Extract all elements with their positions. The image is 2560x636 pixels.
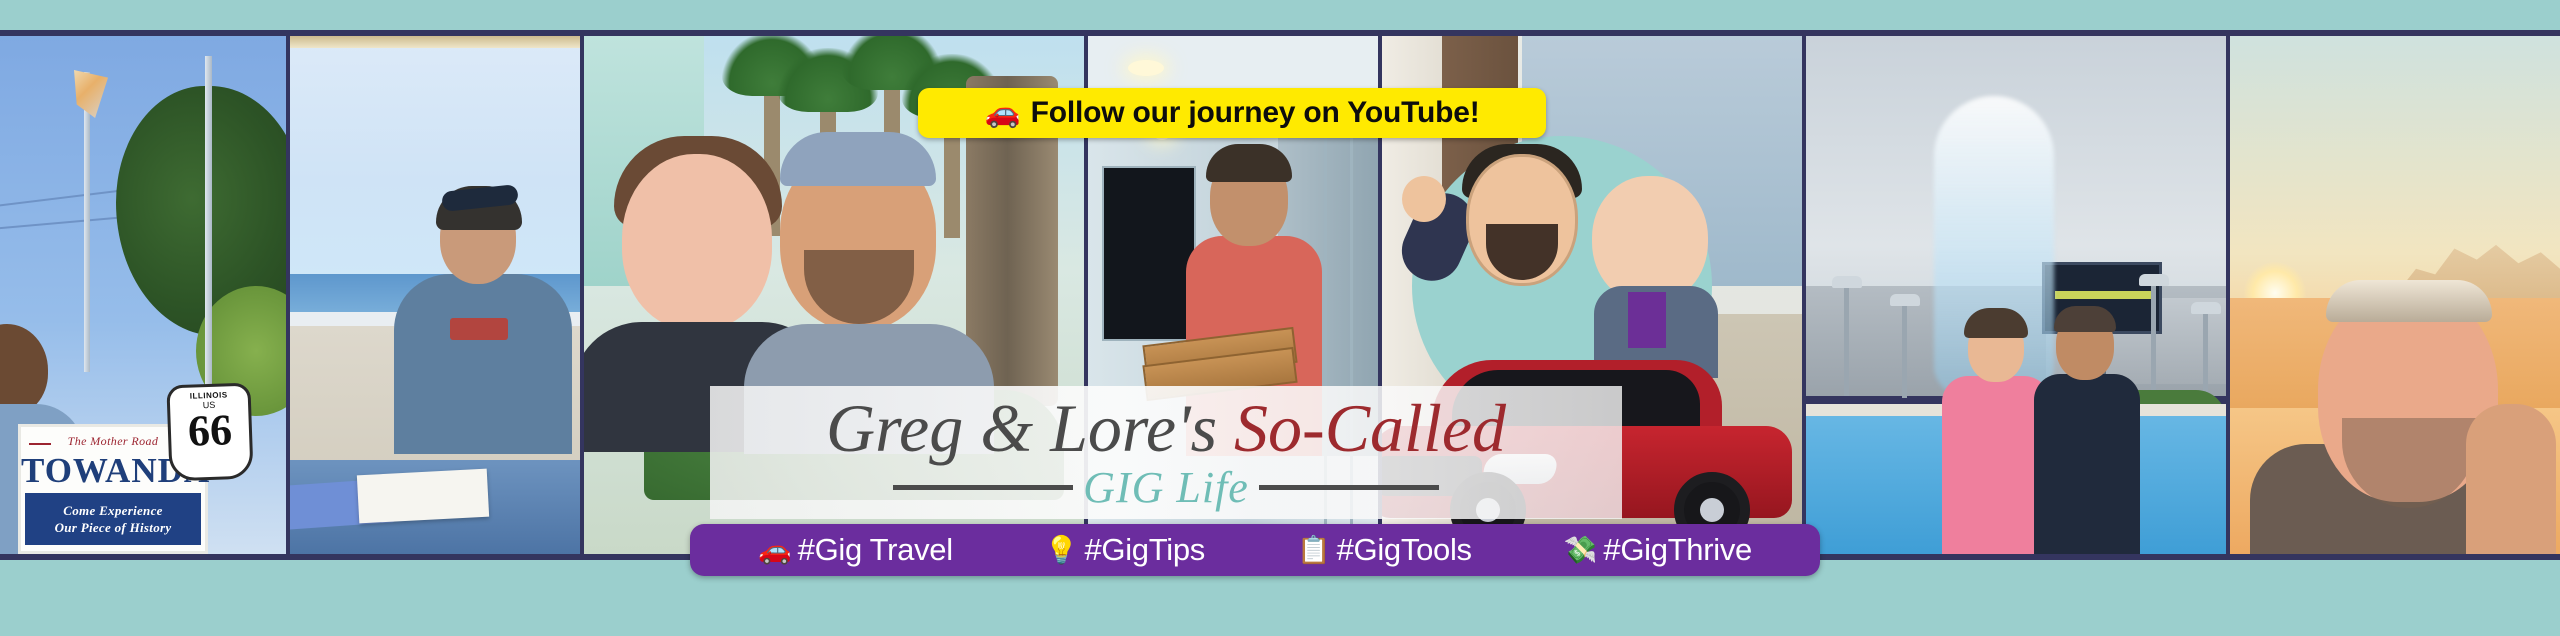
sunglasses-icon [2326,280,2492,322]
man-hair [2054,306,2116,332]
light-pole-icon [1902,304,1907,398]
hashtag-label: #GigThrive [1603,532,1752,568]
title-part-so-called: So-Called [1234,390,1506,466]
title-part-gig-life: GIG Life [1083,462,1249,513]
clipboard-icon: 📋 [1297,537,1331,564]
photo-sunset-beach-selfie [2230,36,2560,554]
awning-edge [290,36,580,48]
lightbulb-icon: 💡 [1045,537,1079,564]
man-body [2034,374,2140,554]
youtube-cta-banner[interactable]: 🚗 Follow our journey on YouTube! [918,88,1546,138]
hashtag-gig-thrive[interactable]: 💸 #GigThrive [1564,532,1752,568]
cartoon-woman-top [1628,292,1666,348]
hashtag-label: #GigTools [1337,532,1472,568]
light-pole-icon [1844,286,1849,396]
delivery-hair [1206,144,1292,182]
sign-subtitle-line2: Our Piece of History [55,519,172,536]
doorway-dark [1102,166,1196,341]
title-rule-right [1259,485,1439,490]
shirt-logo [450,318,508,340]
youtube-cta-text: Follow our journey on YouTube! [1031,96,1480,130]
hashtag-gig-tools[interactable]: 📋 #GigTools [1297,532,1472,568]
brand-title-strip: Greg & Lore's So-Called GIG Life [710,386,1622,519]
title-line-1: Greg & Lore's So-Called [710,390,1622,466]
page-root: The Mother Road TOWANDA Come Experience … [0,0,2560,636]
photo-towanda-route66-sign: The Mother Road TOWANDA Come Experience … [0,36,286,554]
money-with-wings-icon: 💸 [1564,537,1598,564]
ceiling-light-icon [1128,60,1164,76]
hashtag-gig-tips[interactable]: 💡 #GigTips [1045,532,1205,568]
car-icon: 🚗 [984,99,1020,128]
shield-route-number: 66 [187,409,232,453]
flag-pole [84,72,90,372]
hashtag-gig-travel[interactable]: 🚗 #Gig Travel [758,532,953,568]
hashtag-bar: 🚗 #Gig Travel 💡 #GigTips 📋 #GigTools 💸 #… [690,524,1820,576]
route-66-shield-icon: ILLINOIS US 66 [166,383,253,482]
cartoon-woman-head [1592,176,1708,304]
sign-subtitle-line1: Come Experience [63,502,162,519]
person-head [0,324,48,416]
title-part-greg-lore: Greg & Lore's [826,390,1234,466]
sign-pole [205,56,212,386]
person-body [394,274,572,454]
woman-hair [1964,308,2028,338]
photo-stadium-fountain-couple [1806,36,2226,554]
sign-subtitle-panel: Come Experience Our Piece of History [25,493,201,545]
woman-head [622,154,772,330]
title-rule-left [893,485,1073,490]
hashtag-label: #Gig Travel [798,532,953,568]
title-line-2: GIG Life [710,462,1622,513]
car-icon: 🚗 [758,537,792,564]
man-cap-icon [780,132,936,186]
sky-backdrop [290,36,580,276]
paper-clipboard [357,469,489,524]
hashtag-label: #GigTips [1084,532,1205,568]
light-pole-icon [2203,312,2208,402]
photo-beachside-desk-work [290,36,580,554]
cartoon-waving-hand-icon [1402,176,1446,222]
light-pole-icon [2151,284,2156,400]
second-person [2466,404,2556,554]
